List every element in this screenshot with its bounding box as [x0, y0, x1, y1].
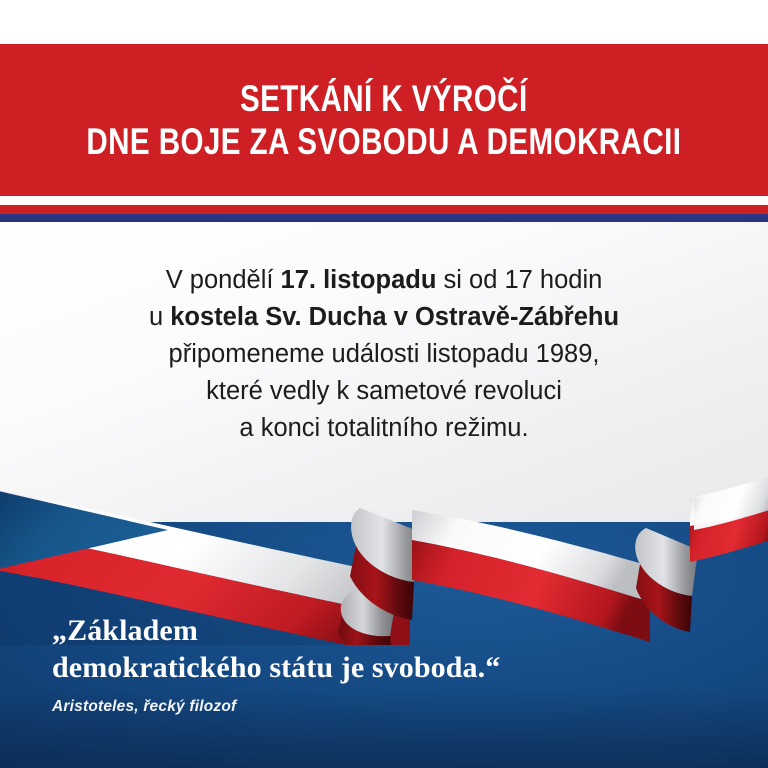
event-line-1-post: si od 17 hodin — [436, 266, 602, 294]
header-banner: SETKÁNÍ K VÝROČÍ DNE BOJE ZA SVOBODU A D… — [0, 44, 768, 196]
quote-line-1: „Základem — [52, 612, 712, 649]
top-white-margin — [0, 0, 768, 44]
event-line-2-pre: u — [149, 303, 170, 331]
event-line-1: V pondělí 17. listopadu si od 17 hodin — [0, 262, 768, 299]
divider-stripe-blue — [0, 214, 768, 222]
quote-block: „Základem demokratického státu je svobod… — [52, 612, 712, 716]
event-line-1-bold: 17. listopadu — [281, 266, 437, 294]
header-title-line-2: DNE BOJE ZA SVOBODU A DEMOKRACII — [87, 121, 682, 162]
poster-canvas: SETKÁNÍ K VÝROČÍ DNE BOJE ZA SVOBODU A D… — [0, 0, 768, 768]
event-line-2-bold: kostela Sv. Ducha v Ostravě-Zábřehu — [170, 303, 619, 331]
event-line-1-pre: V pondělí — [166, 266, 281, 294]
event-line-5: a konci totalitního režimu. — [0, 410, 768, 447]
divider-stripe-red — [0, 205, 768, 214]
header-title-line-1: SETKÁNÍ K VÝROČÍ — [240, 78, 528, 119]
divider-stripe-white — [0, 196, 768, 205]
quote-text: „Základem demokratického státu je svobod… — [52, 612, 712, 686]
event-line-2: u kostela Sv. Ducha v Ostravě-Zábřehu — [0, 299, 768, 336]
event-line-4: které vedly k sametové revoluci — [0, 373, 768, 410]
quote-line-2: demokratického státu je svoboda.“ — [52, 649, 712, 686]
event-line-3: připomeneme události listopadu 1989, — [0, 336, 768, 373]
quote-author: Aristoteles, řecký filozof — [52, 698, 712, 716]
event-description: V pondělí 17. listopadu si od 17 hodin u… — [0, 262, 768, 447]
